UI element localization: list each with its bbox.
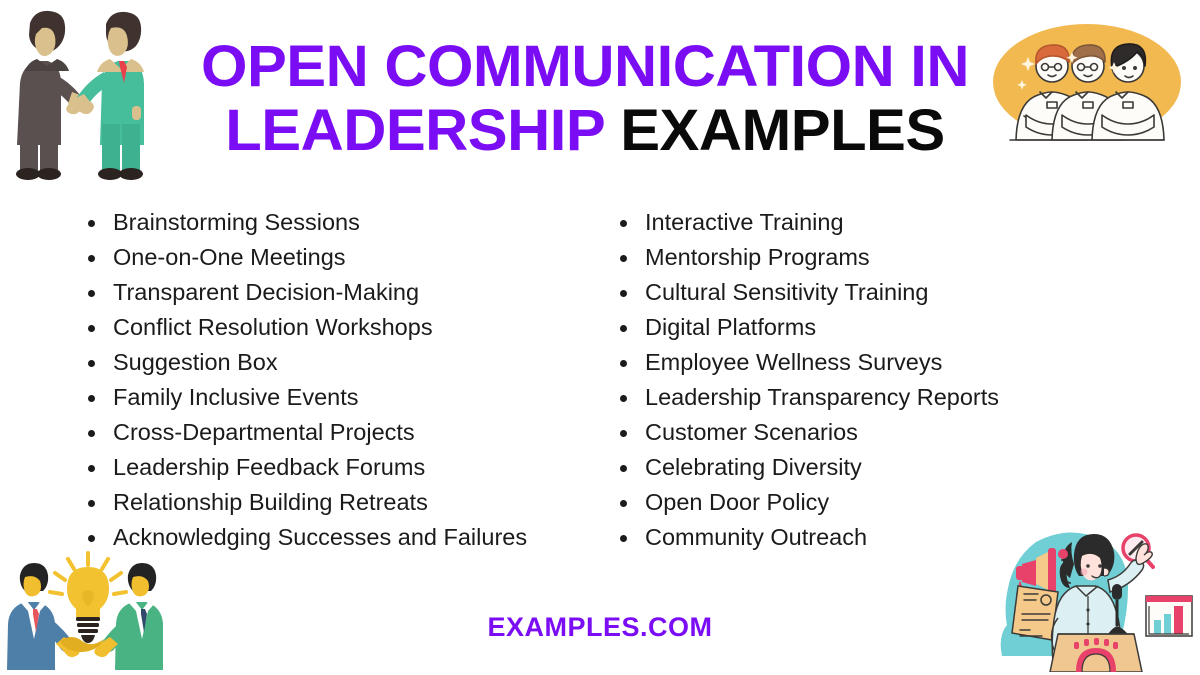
infographic-page: OPEN COMMUNICATION IN LEADERSHIP EXAMPLE…	[0, 0, 1200, 675]
list-item[interactable]: Suggestion Box	[88, 345, 545, 380]
list-item[interactable]: Leadership Transparency Reports	[620, 380, 1105, 415]
right-bullet-list: Interactive Training Mentorship Programs…	[620, 205, 1105, 555]
speaker-podium-illustration	[996, 522, 1196, 672]
list-item[interactable]: Brainstorming Sessions	[88, 205, 545, 240]
left-bullet-list: Brainstorming Sessions One-on-One Meetin…	[88, 205, 545, 555]
list-item[interactable]: Mentorship Programs	[620, 240, 1105, 275]
title-leadership-text: LEADERSHIP	[225, 98, 620, 163]
list-item[interactable]: Digital Platforms	[620, 310, 1105, 345]
examples-lists: Brainstorming Sessions One-on-One Meetin…	[0, 205, 1200, 555]
list-item[interactable]: Cross-Departmental Projects	[88, 415, 545, 450]
list-item[interactable]: Customer Scenarios	[620, 415, 1105, 450]
brand-examples-com[interactable]: EXAMPLES.COM	[487, 612, 712, 643]
list-item[interactable]: Employee Wellness Surveys	[620, 345, 1105, 380]
handshake-businessmen-illustration	[6, 6, 174, 181]
title-line-1: OPEN COMMUNICATION IN	[163, 38, 1008, 96]
footer: EXAMPLES.COM	[0, 612, 1200, 643]
list-item[interactable]: One-on-One Meetings	[88, 240, 545, 275]
list-item[interactable]: Celebrating Diversity	[620, 450, 1105, 485]
list-item[interactable]: Leadership Feedback Forums	[88, 450, 545, 485]
team-crossed-arms-illustration	[988, 22, 1186, 154]
title-examples-text: EXAMPLES	[620, 98, 945, 163]
list-item[interactable]: Family Inclusive Events	[88, 380, 545, 415]
lightbulb-icon	[50, 553, 126, 617]
list-item[interactable]: Cultural Sensitivity Training	[620, 275, 1105, 310]
list-item[interactable]: Open Door Policy	[620, 485, 1105, 520]
list-item[interactable]: Interactive Training	[620, 205, 1105, 240]
list-item[interactable]: Conflict Resolution Workshops	[88, 310, 545, 345]
title-line-2: LEADERSHIP EXAMPLES	[163, 102, 1008, 160]
right-column: Interactive Training Mentorship Programs…	[545, 205, 1105, 555]
left-column: Brainstorming Sessions One-on-One Meetin…	[0, 205, 545, 555]
handshake-idea-bulb-illustration	[2, 545, 174, 670]
list-item[interactable]: Transparent Decision-Making	[88, 275, 545, 310]
page-title: OPEN COMMUNICATION IN LEADERSHIP EXAMPLE…	[175, 38, 995, 160]
list-item[interactable]: Relationship Building Retreats	[88, 485, 545, 520]
